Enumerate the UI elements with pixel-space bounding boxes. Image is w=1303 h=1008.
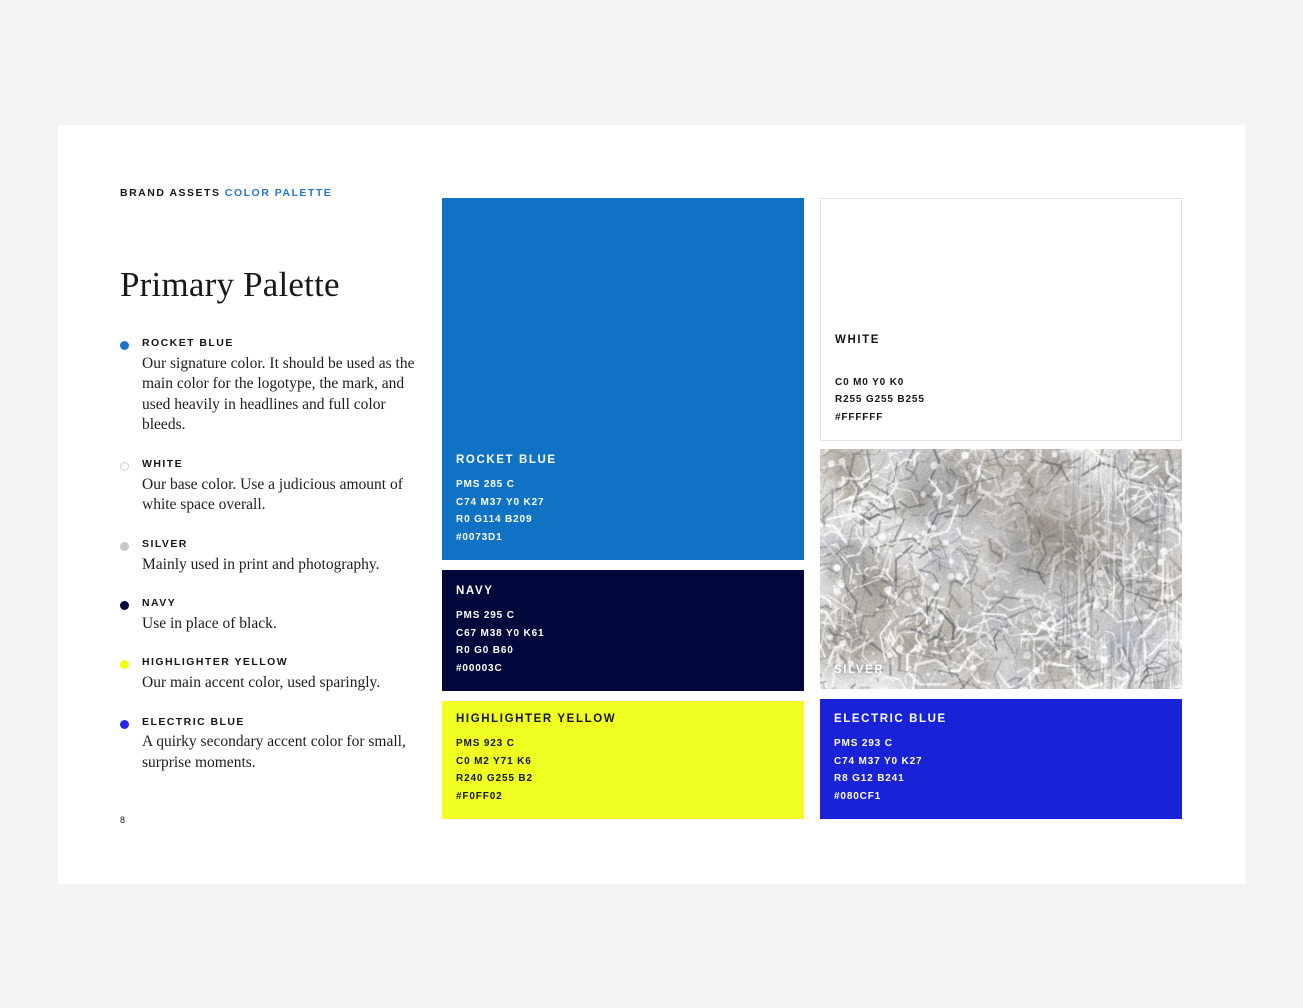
legend-item-description: A quirky secondary accent color for smal…	[142, 732, 430, 773]
legend-item[interactable]: SILVERMainly used in print and photograp…	[120, 538, 430, 575]
swatch-name: NAVY	[456, 585, 794, 597]
swatch-navy[interactable]: NAVY PMS 295 C C67 M38 Y0 K61 R0 G0 B60 …	[442, 570, 804, 691]
legend-item[interactable]: ROCKET BLUEOur signature color. It shoul…	[120, 337, 430, 436]
swatch-rgb: R0 G0 B60	[456, 642, 794, 660]
legend-item[interactable]: ELECTRIC BLUEA quirky secondary accent c…	[120, 716, 430, 774]
legend-item[interactable]: HIGHLIGHTER YELLOWOur main accent color,…	[120, 656, 430, 693]
swatch-name: SILVER	[834, 664, 884, 676]
swatch-highlighter-yellow[interactable]: HIGHLIGHTER YELLOW PMS 923 C C0 M2 Y71 K…	[442, 701, 804, 819]
swatch-name: ROCKET BLUE	[456, 454, 794, 466]
swatch-pms: PMS 285 C	[456, 476, 794, 494]
swatch-cmyk: C67 M38 Y0 K61	[456, 625, 794, 643]
swatch-rgb: R240 G255 B2	[456, 770, 794, 788]
swatch-pms: PMS 923 C	[456, 735, 794, 753]
legend-item-label: HIGHLIGHTER YELLOW	[142, 656, 430, 670]
swatch-cmyk: C74 M37 Y0 K27	[834, 753, 1172, 771]
swatch-rgb: R255 G255 B255	[835, 391, 1171, 409]
legend-item-description: Our main accent color, used sparingly.	[142, 673, 430, 694]
swatch-silver[interactable]: SILVER	[820, 449, 1182, 689]
color-dot-icon	[120, 660, 129, 669]
legend-item[interactable]: WHITEOur base color. Use a judicious amo…	[120, 458, 430, 516]
silver-foil-texture	[820, 449, 1182, 689]
page-number: 8	[120, 815, 125, 825]
legend-item-description: Our signature color. It should be used a…	[142, 354, 430, 436]
legend-item-label: WHITE	[142, 458, 430, 472]
swatch-white[interactable]: WHITE C0 M0 Y0 K0 R255 G255 B255 #FFFFFF	[820, 198, 1182, 441]
swatch-name: WHITE	[835, 334, 1171, 346]
swatch-pms: PMS 293 C	[834, 735, 1172, 753]
legend-item-description: Our base color. Use a judicious amount o…	[142, 475, 430, 516]
swatch-cmyk: C0 M0 Y0 K0	[835, 374, 1171, 392]
color-dot-icon	[120, 462, 129, 471]
swatch-cmyk: C74 M37 Y0 K27	[456, 494, 794, 512]
color-legend-list: ROCKET BLUEOur signature color. It shoul…	[120, 337, 430, 774]
color-dot-icon	[120, 542, 129, 551]
legend-item-label: ROCKET BLUE	[142, 337, 430, 351]
swatch-rgb: R8 G12 B241	[834, 770, 1172, 788]
swatch-name: ELECTRIC BLUE	[834, 713, 1172, 725]
left-column: BRAND ASSETS COLOR PALETTE Primary Palet…	[120, 187, 430, 796]
color-dot-icon	[120, 341, 129, 350]
swatch-hex: #F0FF02	[456, 788, 794, 806]
swatch-cmyk: C0 M2 Y71 K6	[456, 753, 794, 771]
legend-item-label: SILVER	[142, 538, 430, 552]
breadcrumb-section: BRAND ASSETS	[120, 187, 220, 199]
color-dot-icon	[120, 601, 129, 610]
swatch-electric-blue[interactable]: ELECTRIC BLUE PMS 293 C C74 M37 Y0 K27 R…	[820, 699, 1182, 819]
legend-item-label: ELECTRIC BLUE	[142, 716, 430, 730]
legend-item-description: Use in place of black.	[142, 614, 430, 635]
swatch-name: HIGHLIGHTER YELLOW	[456, 713, 794, 725]
breadcrumb-subsection: COLOR PALETTE	[225, 187, 332, 199]
swatch-hex: #080CF1	[834, 788, 1172, 806]
swatch-hex: #00003C	[456, 660, 794, 678]
legend-item-description: Mainly used in print and photography.	[142, 555, 430, 576]
legend-item-label: NAVY	[142, 597, 430, 611]
swatch-hex: #FFFFFF	[835, 409, 1171, 427]
breadcrumb: BRAND ASSETS COLOR PALETTE	[120, 187, 430, 199]
swatch-hex: #0073D1	[456, 529, 794, 547]
color-dot-icon	[120, 720, 129, 729]
swatch-rgb: R0 G114 B209	[456, 511, 794, 529]
page-title: Primary Palette	[120, 265, 430, 305]
legend-item[interactable]: NAVYUse in place of black.	[120, 597, 430, 634]
swatch-rocket-blue[interactable]: ROCKET BLUE PMS 285 C C74 M37 Y0 K27 R0 …	[442, 198, 804, 560]
page-card: BRAND ASSETS COLOR PALETTE Primary Palet…	[58, 125, 1245, 884]
swatch-pms: PMS 295 C	[456, 607, 794, 625]
